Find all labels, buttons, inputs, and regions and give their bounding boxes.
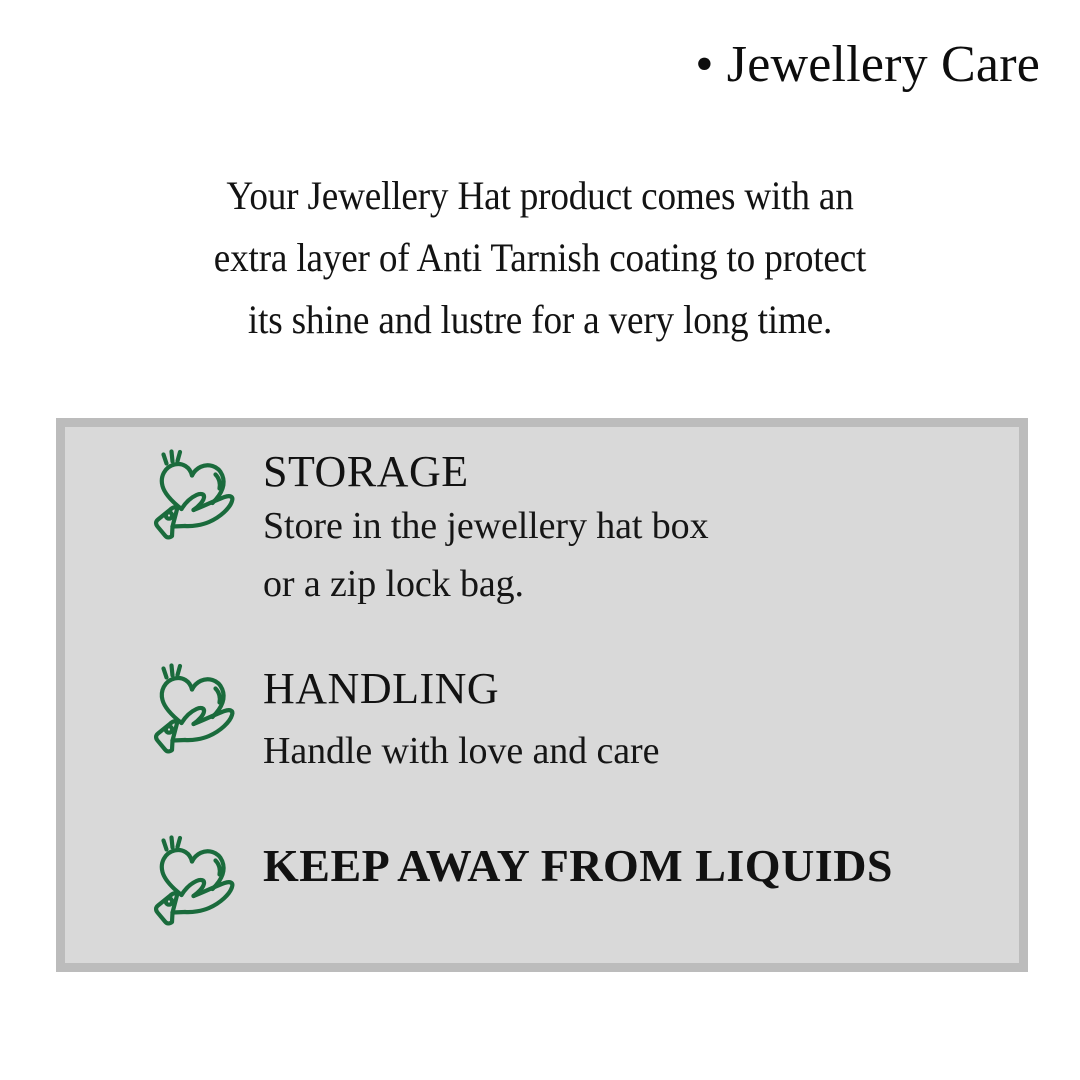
- list-item: STORAGE Store in the jewellery hat box o…: [141, 441, 709, 613]
- page-title: • Jewellery Care: [695, 34, 1040, 96]
- intro-line: Your Jewellery Hat product comes with an: [94, 165, 987, 227]
- care-item-body-line: Handle with love and care: [263, 717, 659, 785]
- list-item: HANDLING Handle with love and care: [141, 655, 659, 785]
- care-item-text: STORAGE Store in the jewellery hat box o…: [263, 441, 709, 613]
- care-instructions-panel: STORAGE Store in the jewellery hat box o…: [56, 418, 1028, 972]
- intro-paragraph: Your Jewellery Hat product comes with an…: [60, 165, 1020, 351]
- heart-in-hand-icon: [141, 655, 245, 759]
- care-item-text: HANDLING Handle with love and care: [263, 655, 659, 785]
- care-item-heading: KEEP AWAY FROM LIQUIDS: [263, 840, 893, 891]
- care-item-body-line: or a zip lock bag.: [263, 555, 709, 613]
- care-instruction-list: STORAGE Store in the jewellery hat box o…: [65, 427, 1019, 963]
- intro-line: extra layer of Anti Tarnish coating to p…: [94, 227, 987, 289]
- list-item: KEEP AWAY FROM LIQUIDS: [141, 827, 893, 931]
- care-item-heading: STORAGE: [263, 447, 469, 496]
- intro-line: its shine and lustre for a very long tim…: [94, 289, 987, 351]
- heart-in-hand-icon: [141, 441, 245, 545]
- care-item-body-line: Store in the jewellery hat box: [263, 497, 709, 555]
- care-item-text: KEEP AWAY FROM LIQUIDS: [263, 827, 893, 891]
- care-item-heading: HANDLING: [263, 664, 499, 713]
- heart-in-hand-icon: [141, 827, 245, 931]
